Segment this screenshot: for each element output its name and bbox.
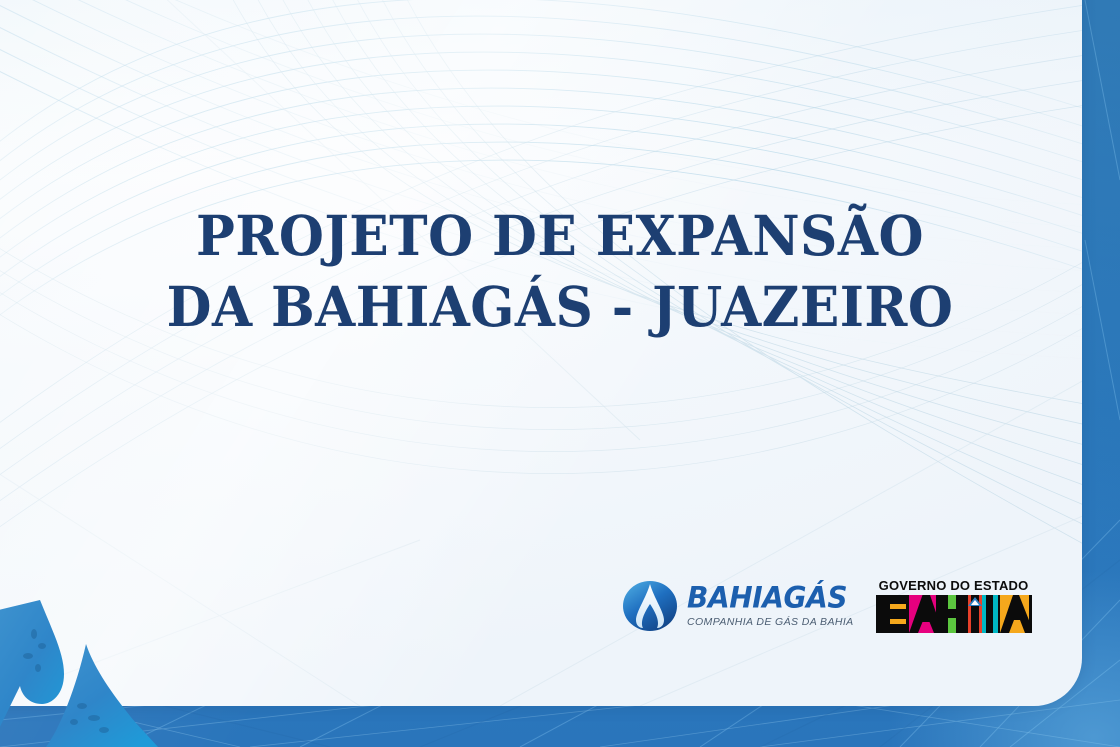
title-line-1: PROJETO DE EXPANSÃO <box>34 208 1087 263</box>
bahiagas-flame-symbol <box>622 580 678 632</box>
bahiagas-logo: BAHIAGÁS COMPANHIA DE GÁS DA BAHIA <box>622 580 854 632</box>
logo-row: BAHIAGÁS COMPANHIA DE GÁS DA BAHIA GOVER… <box>622 578 1032 633</box>
bahiagas-wordmark: BAHIAGÁS <box>687 583 854 613</box>
title-line-2: DA BAHIAGÁS - JUAZEIRO <box>34 279 1087 334</box>
page-title: PROJETO DE EXPANSÃO DA BAHIAGÁS - JUAZEI… <box>0 208 1120 334</box>
presentation-slide: PROJETO DE EXPANSÃO DA BAHIAGÁS - JUAZEI… <box>0 0 1120 747</box>
bahiagas-flame-watermark <box>0 572 158 747</box>
bahia-state-wordmark <box>876 595 1032 633</box>
bahiagas-tagline: COMPANHIA DE GÁS DA BAHIA <box>687 617 854 628</box>
bahiagas-wordmark-block: BAHIAGÁS COMPANHIA DE GÁS DA BAHIA <box>687 584 854 628</box>
governo-do-estado-label: GOVERNO DO ESTADO <box>876 578 1032 593</box>
governo-do-estado-logo: GOVERNO DO ESTADO <box>876 578 1032 633</box>
